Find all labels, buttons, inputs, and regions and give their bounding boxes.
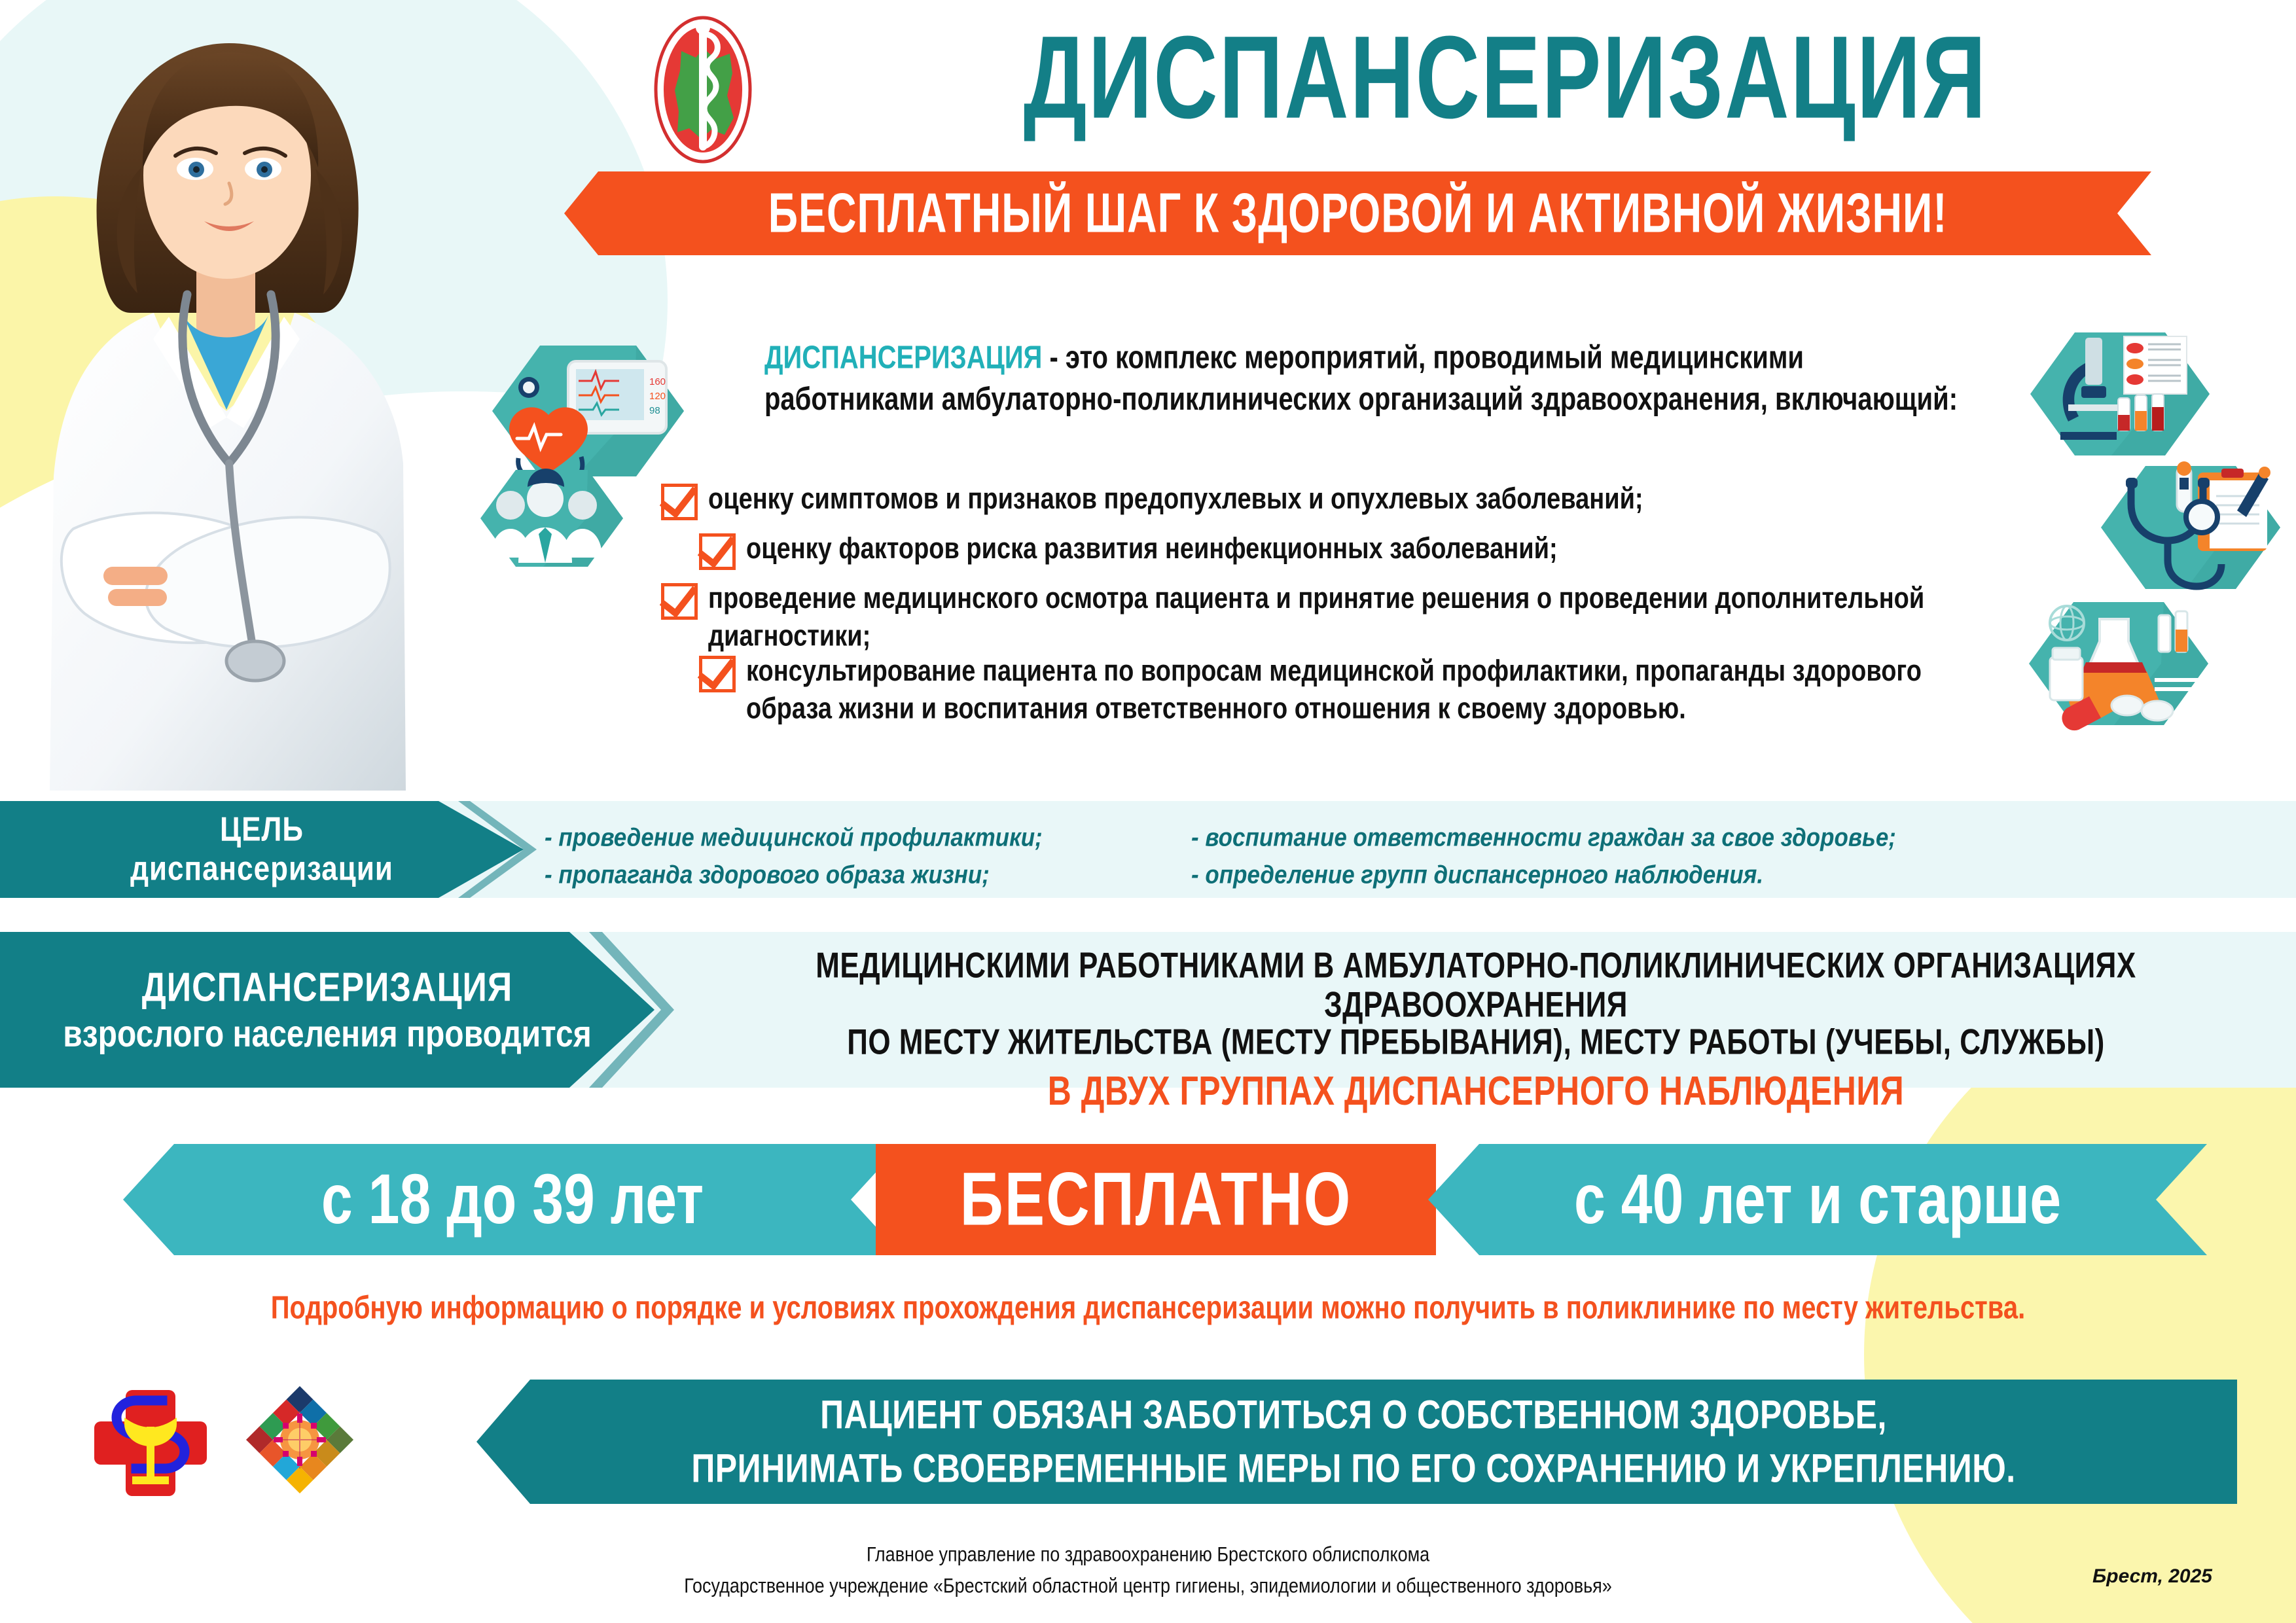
belarus-ornament-diamond-logo-icon [242, 1382, 357, 1497]
goal-band-label-tab: ЦЕЛЬ диспансеризации [0, 801, 524, 898]
goal-column-2: - воспитание ответственности граждан за … [1191, 819, 2173, 894]
who-label-line1: ДИСПАНСЕРИЗАЦИЯ [142, 964, 513, 1011]
poster-canvas: ДИСПАНСЕРИЗАЦИЯ БЕСПЛАТНЫЙ ШАГ К ЗДОРОВО… [0, 0, 2296, 1623]
free-of-charge-label: БЕСПЛАТНО [960, 1156, 1352, 1242]
footer-line-1: Главное управление по здравоохранению Бр… [0, 1539, 2296, 1571]
checklist: оценку симптомов и признаков предопухлев… [661, 481, 2003, 726]
age-group-left-banner: с 18 до 39 лет [123, 1144, 902, 1255]
goal-label-line1: ЦЕЛЬ [220, 811, 304, 849]
who-line-2: ПО МЕСТУ ЖИТЕЛЬСТВА (МЕСТУ ПРЕБЫВАНИЯ), … [681, 1023, 2271, 1061]
age-group-row: с 18 до 39 лет БЕСПЛАТНО с 40 лет и стар… [0, 1144, 2296, 1255]
footer-city-year: Брест, 2025 [2092, 1565, 2212, 1588]
goal-item: - воспитание ответственности граждан за … [1191, 819, 2173, 857]
svg-text:98: 98 [649, 405, 660, 416]
intro-keyword: ДИСПАНСЕРИЗАЦИЯ [764, 340, 1042, 376]
goal-item: - пропаганда здорового образа жизни; [545, 857, 1147, 894]
goal-column-1: - проведение медицинской профилактики; -… [545, 819, 1147, 894]
who-band-body: МЕДИЦИНСКИМИ РАБОТНИКАМИ В АМБУЛАТОРНО-П… [681, 946, 2271, 1118]
age-group-right-label: с 40 лет и старше [1574, 1159, 2061, 1240]
checkbox-checked-icon [699, 533, 736, 570]
svg-text:160: 160 [649, 376, 666, 387]
flask-pills-ampoules-icon [2029, 602, 2208, 730]
who-band-label-tab: ДИСПАНСЕРИЗАЦИЯ взрослого населения пров… [0, 932, 655, 1088]
who-band: ДИСПАНСЕРИЗАЦИЯ взрослого населения пров… [0, 932, 2296, 1088]
who-label-line2: взрослого населения проводится [63, 1012, 592, 1056]
checkbox-checked-icon [661, 484, 698, 520]
list-item-label: оценку факторов риска развития неинфекци… [746, 531, 1558, 568]
list-item: оценку факторов риска развития неинфекци… [699, 531, 2003, 570]
ministry-of-health-logo-icon [625, 12, 781, 168]
patient-duty-line-2: ПРИНИМАТЬ СВОЕВРЕМЕННЫЕ МЕРЫ ПО ЕГО СОХР… [691, 1446, 2015, 1492]
age-group-left-label: с 18 до 39 лет [321, 1159, 704, 1240]
who-line-1: МЕДИЦИНСКИМИ РАБОТНИКАМИ В АМБУЛАТОРНО-П… [681, 946, 2271, 1024]
goal-band: ЦЕЛЬ диспансеризации - проведение медици… [0, 801, 2296, 898]
goal-item: - проведение медицинской профилактики; [545, 819, 1147, 857]
who-line-3-accent: В ДВУХ ГРУППАХ ДИСПАНСЕРНОГО НАБЛЮДЕНИЯ [681, 1069, 2271, 1113]
age-group-right-banner: с 40 лет и старше [1428, 1144, 2207, 1255]
list-item: консультирование пациента по вопросам ме… [699, 653, 2003, 715]
patient-duty-line-1: ПАЦИЕНТ ОБЯЗАН ЗАБОТИТЬСЯ О СОБСТВЕННОМ … [820, 1392, 1887, 1438]
right-hex-icon-group [1990, 321, 2296, 792]
patient-duty-banner: ПАЦИЕНТ ОБЯЗАН ЗАБОТИТЬСЯ О СОБСТВЕННОМ … [470, 1380, 2237, 1504]
subtitle-banner: БЕСПЛАТНЫЙ ШАГ К ЗДОРОВОЙ И АКТИВНОЙ ЖИЗ… [564, 171, 2151, 255]
list-item-label: консультирование пациента по вопросам ме… [746, 653, 2003, 728]
stethoscope-clipboard-thermometer-icon [2101, 461, 2280, 589]
list-item-label: проведение медицинского осмотра пациента… [708, 580, 2003, 655]
intro-paragraph: ДИСПАНСЕРИЗАЦИЯ - это комплекс мероприят… [764, 337, 1975, 420]
info-note: Подробную информацию о порядке и условия… [0, 1291, 2296, 1327]
goal-label-line2: диспансеризации [130, 850, 393, 889]
poster-header: ДИСПАНСЕРИЗАЦИЯ [0, 0, 2296, 164]
list-item: проведение медицинского осмотра пациента… [661, 580, 2003, 643]
medical-team-icon [480, 469, 623, 567]
list-item-label: оценку симптомов и признаков предопухлев… [708, 481, 1643, 518]
list-item: оценку симптомов и признаков предопухлев… [661, 481, 2003, 520]
page-title: ДИСПАНСЕРИЗАЦИЯ [831, 18, 2179, 136]
footer: Главное управление по здравоохранению Бр… [0, 1539, 2296, 1602]
goal-item: - определение групп диспансерного наблюд… [1191, 857, 2173, 894]
footer-line-2: Государственное учреждение «Брестский об… [0, 1571, 2296, 1602]
microscope-lab-report-icon [2030, 332, 2210, 455]
ecg-monitor-heart-icon: 160 120 98 [492, 346, 684, 483]
health-service-bowl-serpent-cross-logo-icon [92, 1381, 209, 1499]
subtitle-banner-text: БЕСПЛАТНЫЙ ШАГ К ЗДОРОВОЙ И АКТИВНОЙ ЖИЗ… [768, 181, 1948, 245]
checkbox-checked-icon [661, 583, 698, 620]
checkbox-checked-icon [699, 656, 736, 692]
free-of-charge-banner: БЕСПЛАТНО [876, 1144, 1436, 1255]
svg-text:120: 120 [649, 391, 666, 402]
